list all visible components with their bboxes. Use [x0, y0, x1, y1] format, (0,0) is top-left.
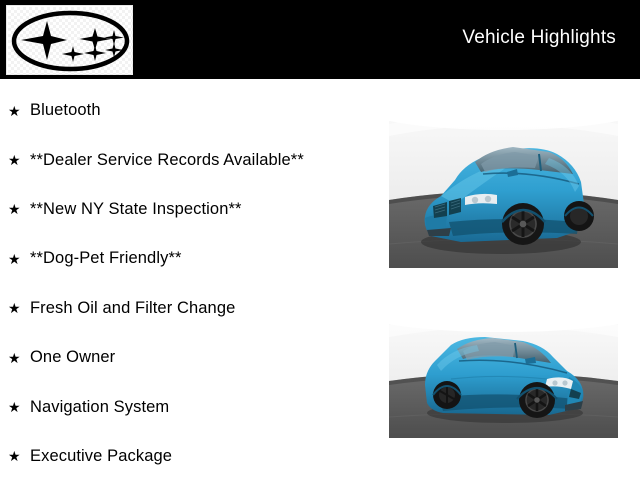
list-item-label: Fresh Oil and Filter Change [30, 299, 235, 318]
list-item-label: One Owner [30, 348, 115, 367]
star-bullet-icon: ★ [8, 351, 30, 365]
star-bullet-icon: ★ [8, 153, 30, 167]
vehicle-photo-front-three-quarter[interactable] [389, 96, 618, 268]
star-bullet-icon: ★ [8, 202, 30, 216]
vehicle-highlights-list: ★ Bluetooth ★ **Dealer Service Records A… [0, 86, 380, 481]
list-item: ★ Navigation System [0, 382, 380, 431]
vehicle-photo-2-image [389, 305, 618, 438]
star-bullet-icon: ★ [8, 449, 30, 463]
list-item-label: **Dealer Service Records Available** [30, 151, 304, 170]
list-item-label: Executive Package [30, 447, 172, 466]
list-item: ★ **Dog-Pet Friendly** [0, 234, 380, 283]
vehicle-photo-side-front-right[interactable] [389, 305, 618, 438]
list-item: ★ **Dealer Service Records Available** [0, 135, 380, 184]
star-bullet-icon: ★ [8, 252, 30, 266]
list-item: ★ Executive Package [0, 432, 380, 481]
list-item-label: Navigation System [30, 398, 169, 417]
header-bar: Vehicle Highlights [0, 0, 640, 79]
star-bullet-icon: ★ [8, 104, 30, 118]
list-item: ★ Bluetooth [0, 86, 380, 135]
list-item: ★ Fresh Oil and Filter Change [0, 284, 380, 333]
star-bullet-icon: ★ [8, 400, 30, 414]
list-item: ★ **New NY State Inspection** [0, 185, 380, 234]
list-item-label: **New NY State Inspection** [30, 200, 242, 219]
list-item-label: Bluetooth [30, 101, 101, 120]
subaru-logo-icon [11, 10, 130, 72]
vehicle-photo-1-image [389, 96, 618, 268]
star-bullet-icon: ★ [8, 301, 30, 315]
page-title: Vehicle Highlights [462, 27, 616, 49]
list-item-label: **Dog-Pet Friendly** [30, 249, 181, 268]
brand-logo-container[interactable] [6, 5, 133, 75]
list-item: ★ One Owner [0, 333, 380, 382]
